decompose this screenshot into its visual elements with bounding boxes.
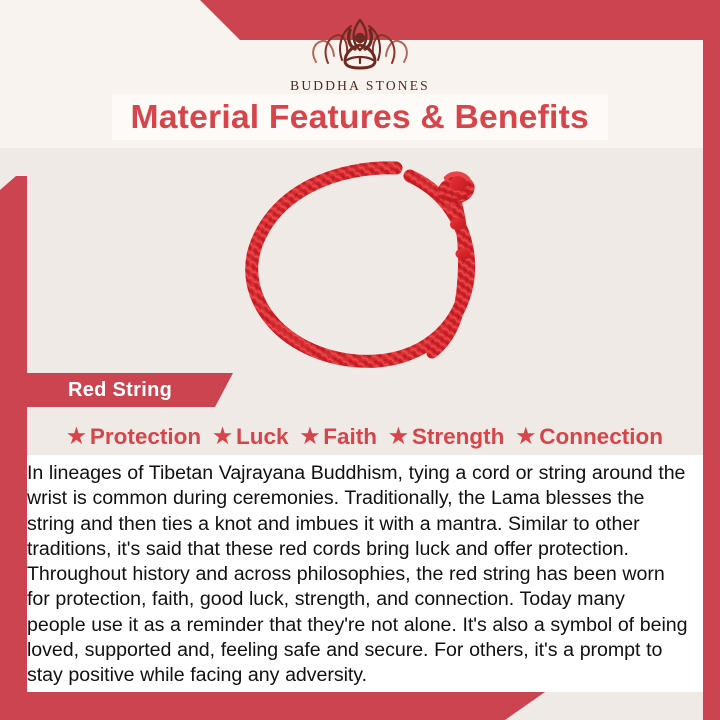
frame-left-upper-bar [0, 176, 27, 391]
description-paragraph: In lineages of Tibetan Vajrayana Buddhis… [27, 461, 689, 689]
benefit-label: Faith [323, 424, 377, 450]
section-banner-label: Red String [68, 379, 172, 402]
benefit-item-protection: ★ Protection [61, 424, 207, 450]
benefit-item-faith: ★ Faith [294, 424, 383, 450]
star-icon: ★ [300, 426, 319, 447]
star-icon: ★ [213, 426, 232, 447]
benefits-list: ★ Protection ★ Luck ★ Faith ★ Strength ★… [27, 420, 703, 454]
frame-left-lower-bar [0, 391, 27, 720]
brand-name: BUDDHA STONES [290, 78, 430, 94]
page-title-band: Material Features & Benefits [112, 94, 608, 140]
section-banner: Red String [27, 373, 233, 407]
brand-logo: BUDDHA STONES [0, 16, 720, 94]
product-image [218, 150, 518, 375]
lotus-meditation-icon [306, 16, 414, 76]
benefit-label: Luck [236, 424, 289, 450]
infographic-page: BUDDHA STONES Material Features & Benefi… [0, 0, 720, 720]
benefit-item-luck: ★ Luck [207, 424, 294, 450]
benefit-item-connection: ★ Connection [510, 424, 669, 450]
benefit-label: Strength [412, 424, 505, 450]
benefit-label: Protection [90, 424, 201, 450]
star-icon: ★ [67, 426, 86, 447]
page-title: Material Features & Benefits [131, 98, 589, 136]
benefit-item-strength: ★ Strength [383, 424, 510, 450]
description-block: In lineages of Tibetan Vajrayana Buddhis… [27, 455, 703, 692]
frame-right-bar [703, 0, 720, 720]
benefit-label: Connection [539, 424, 663, 450]
star-icon: ★ [389, 426, 408, 447]
star-icon: ★ [516, 426, 535, 447]
